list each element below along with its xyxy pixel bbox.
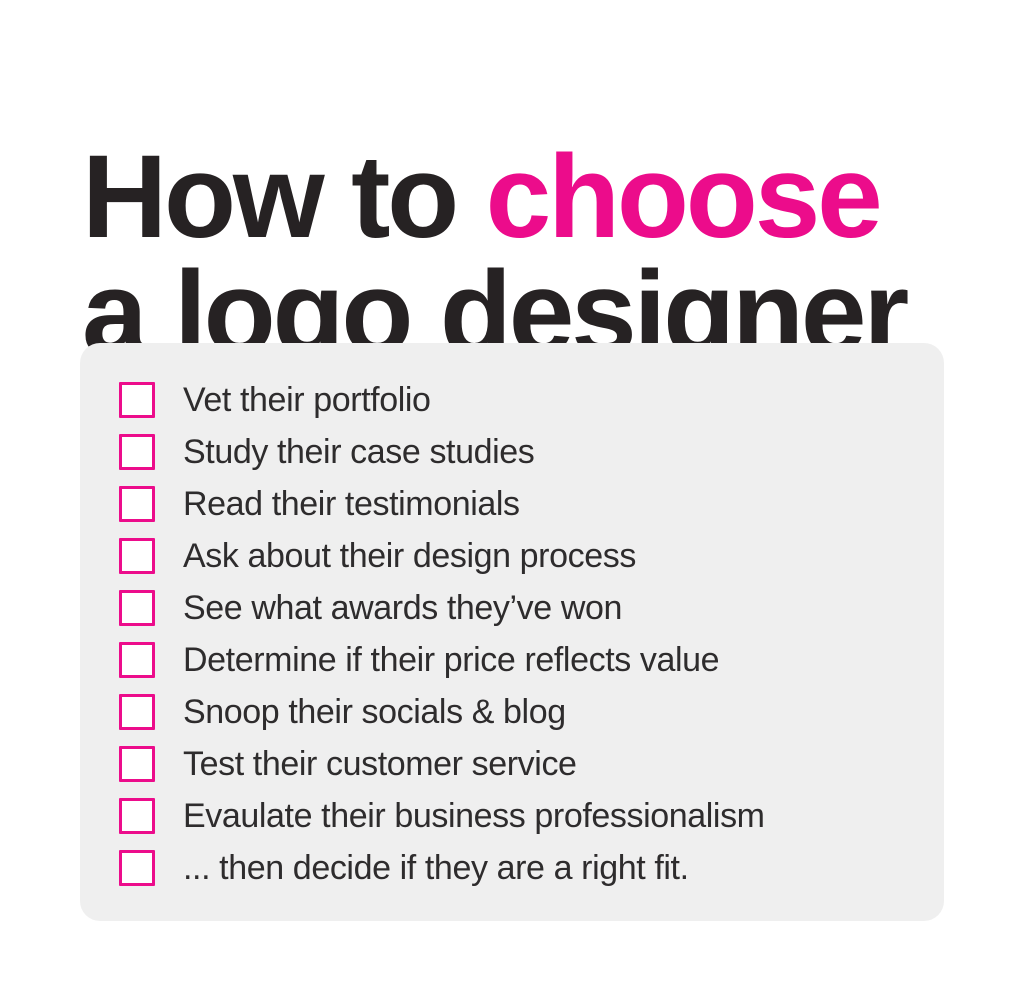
checklist-item-label: Study their case studies (183, 433, 534, 471)
checkbox-icon[interactable] (119, 694, 155, 730)
checklist-row[interactable]: ... then decide if they are a right fit. (119, 842, 924, 894)
page-title-line-1-plain: How to (82, 131, 486, 263)
checkbox-icon[interactable] (119, 642, 155, 678)
page-title: How to choose a logo designer (82, 139, 982, 371)
checkbox-icon[interactable] (119, 434, 155, 470)
checklist-item-label: Snoop their socials & blog (183, 693, 566, 731)
checklist: Vet their portfolioStudy their case stud… (119, 374, 924, 894)
checklist-row[interactable]: Test their customer service (119, 738, 924, 790)
checklist-item-label: Vet their portfolio (183, 381, 431, 419)
page-title-accent-word: choose (486, 131, 880, 263)
checklist-item-label: Evaulate their business professionalism (183, 797, 765, 835)
checkbox-icon[interactable] (119, 538, 155, 574)
checklist-card: Vet their portfolioStudy their case stud… (80, 343, 944, 921)
checkbox-icon[interactable] (119, 850, 155, 886)
checklist-row[interactable]: Determine if their price reflects value (119, 634, 924, 686)
checkbox-icon[interactable] (119, 590, 155, 626)
checklist-item-label: ... then decide if they are a right fit. (183, 849, 689, 887)
checklist-item-label: Test their customer service (183, 745, 577, 783)
checklist-row[interactable]: See what awards they’ve won (119, 582, 924, 634)
checklist-row[interactable]: Vet their portfolio (119, 374, 924, 426)
checklist-row[interactable]: Study their case studies (119, 426, 924, 478)
infographic-page: How to choose a logo designer Vet their … (0, 0, 1024, 1002)
checklist-item-label: Read their testimonials (183, 485, 520, 523)
checklist-row[interactable]: Ask about their design process (119, 530, 924, 582)
checklist-row[interactable]: Read their testimonials (119, 478, 924, 530)
checkbox-icon[interactable] (119, 382, 155, 418)
checklist-item-label: See what awards they’ve won (183, 589, 622, 627)
checklist-item-label: Ask about their design process (183, 537, 636, 575)
checkbox-icon[interactable] (119, 746, 155, 782)
checkbox-icon[interactable] (119, 486, 155, 522)
checklist-row[interactable]: Evaulate their business professionalism (119, 790, 924, 842)
checklist-item-label: Determine if their price reflects value (183, 641, 719, 679)
checklist-row[interactable]: Snoop their socials & blog (119, 686, 924, 738)
checkbox-icon[interactable] (119, 798, 155, 834)
page-title-line-1: How to choose (82, 139, 982, 255)
